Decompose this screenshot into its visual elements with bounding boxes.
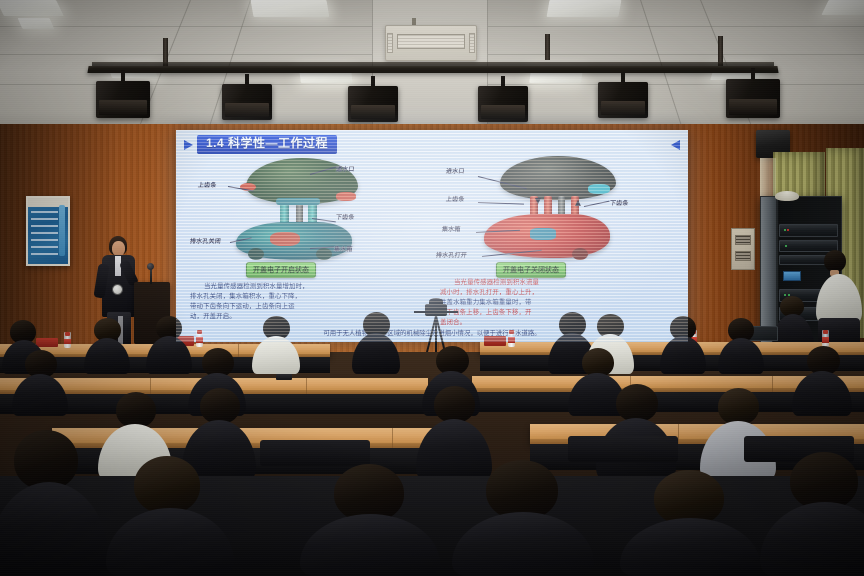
audience-shoulders bbox=[660, 336, 706, 374]
right-wheel bbox=[572, 248, 588, 260]
right-text-line-1: 减小时，排水孔打开，重心上升， bbox=[440, 288, 539, 298]
right-callout-3: 集水箱 bbox=[442, 224, 462, 233]
left-callout-4: 集水箱 bbox=[334, 244, 354, 253]
audience-member-foreground bbox=[760, 452, 864, 576]
wall-poster bbox=[26, 196, 70, 266]
audience-shoulders bbox=[760, 502, 864, 576]
air-conditioner-unit bbox=[385, 25, 477, 61]
stage-light bbox=[726, 68, 780, 118]
audience-head bbox=[434, 386, 475, 423]
stage-light bbox=[598, 72, 648, 118]
stage-light bbox=[222, 74, 272, 120]
lighting-truss bbox=[87, 66, 778, 73]
water-bottle bbox=[822, 330, 829, 347]
left-base-detail bbox=[270, 232, 300, 246]
camera-body bbox=[425, 304, 447, 316]
audience-shoulders bbox=[252, 336, 300, 374]
left-wheel2 bbox=[316, 248, 332, 260]
right-callout-0: 进水口 bbox=[446, 166, 466, 175]
audience-head bbox=[116, 392, 156, 428]
left-joint bbox=[276, 198, 320, 205]
audience-member bbox=[596, 384, 676, 480]
stage-light bbox=[96, 70, 150, 118]
left-text-line-0: 当光量传感器检测到积水量增加时， bbox=[190, 282, 309, 292]
camera-crossbar bbox=[414, 311, 458, 313]
audience-shoulders bbox=[718, 338, 764, 374]
audience-shoulders bbox=[620, 518, 760, 576]
audience-head bbox=[718, 388, 759, 425]
audience-head bbox=[14, 430, 78, 490]
chair-back bbox=[260, 440, 370, 466]
presenter-head bbox=[112, 241, 125, 256]
audience-member bbox=[718, 318, 764, 374]
left-callout-1: 通水口 bbox=[336, 164, 356, 173]
left-callout-0: 上齿条 bbox=[198, 180, 218, 189]
water-bottle bbox=[508, 330, 515, 347]
triangle-left-icon bbox=[184, 140, 193, 150]
slide-title: 1.4 科学性—工作过程 bbox=[197, 135, 337, 153]
rack-lamp bbox=[775, 191, 799, 201]
audience-shoulders bbox=[0, 482, 108, 576]
stage-light bbox=[478, 76, 528, 122]
right-text-line-0: 当光量传感器检测到积水流量 bbox=[440, 278, 539, 288]
water-bottle bbox=[64, 332, 71, 348]
staff-shirt bbox=[816, 274, 862, 322]
audience-head bbox=[200, 388, 240, 424]
right-callout-4: 排水孔打开 bbox=[436, 250, 468, 259]
audience-member bbox=[792, 346, 852, 416]
chair-back bbox=[568, 436, 678, 462]
smartphone-on-desk bbox=[276, 374, 292, 380]
slide-title-row: 1.4 科学性—工作过程 bbox=[184, 135, 680, 154]
right-base-detail bbox=[530, 228, 556, 240]
truss-post bbox=[545, 34, 550, 60]
right-callout-1: 上齿条 bbox=[446, 194, 466, 203]
wall-control-panel bbox=[731, 228, 755, 270]
left-caption: 开盖电子开启状态 bbox=[246, 262, 316, 278]
audience-member-foreground bbox=[300, 464, 440, 576]
desk-nameplate bbox=[484, 336, 506, 346]
right-caption: 开盖电子关闭状态 bbox=[496, 262, 566, 278]
rack-unit[interactable] bbox=[779, 224, 837, 237]
ceiling-light bbox=[0, 0, 64, 16]
left-callout-2: 下齿条 bbox=[336, 212, 356, 221]
audience-member-foreground bbox=[620, 470, 760, 576]
microphone-stand bbox=[150, 268, 152, 284]
ceiling-light bbox=[18, 18, 55, 29]
audience-head bbox=[134, 456, 200, 514]
audience-member-foreground bbox=[452, 460, 594, 576]
presenter-badge bbox=[112, 284, 123, 295]
audience-shoulders bbox=[84, 338, 130, 374]
ceiling-light bbox=[821, 0, 864, 15]
right-callout-2: 下齿条 bbox=[610, 198, 630, 207]
staff-hair bbox=[824, 250, 846, 272]
audience-member bbox=[352, 312, 400, 374]
stage-light bbox=[348, 76, 398, 122]
audience-head bbox=[616, 384, 658, 422]
audience-member-foreground bbox=[0, 430, 108, 576]
ceiling-light bbox=[251, 0, 330, 17]
left-cap-nub2 bbox=[336, 192, 356, 201]
ceiling bbox=[0, 0, 864, 132]
rack-display[interactable] bbox=[783, 271, 801, 281]
audience-shoulders bbox=[106, 508, 234, 576]
audience-shoulders bbox=[146, 336, 192, 374]
lighting-truss-rear bbox=[92, 62, 774, 66]
water-bottle bbox=[196, 330, 203, 347]
audience-member bbox=[660, 316, 706, 374]
audience-member bbox=[252, 316, 300, 374]
ceiling-light bbox=[547, 0, 622, 17]
left-text-line-1: 排水孔关闭，集水箱积水，重心下降， bbox=[190, 292, 309, 302]
triangle-right-icon bbox=[671, 140, 680, 150]
audience-member bbox=[146, 316, 192, 374]
audience-shoulders bbox=[300, 514, 440, 576]
audience-shoulders bbox=[792, 371, 852, 416]
left-callout-3: 排水孔关闭 bbox=[190, 236, 222, 245]
left-text-line-2: 带动下齿条向下运动，上齿条向上运 bbox=[190, 302, 309, 312]
right-cap-nub bbox=[588, 184, 610, 194]
audience-shoulders bbox=[12, 374, 68, 416]
audience-member-foreground bbox=[106, 456, 234, 576]
left-diagram: 上齿条 通水口 下齿条 排水孔关闭 集水箱 bbox=[184, 156, 430, 274]
audience-shoulders bbox=[352, 333, 400, 374]
right-diagram: 进水口 上齿条 下齿条 集水箱 排水孔打开 bbox=[434, 156, 680, 274]
lecture-hall-scene: 1.4 科学性—工作过程 上齿条 bbox=[0, 0, 864, 576]
audience-member bbox=[84, 318, 130, 374]
audience-head bbox=[486, 460, 558, 520]
arrow-up-icon bbox=[575, 200, 581, 206]
arrow-down-icon bbox=[535, 198, 541, 204]
left-wheel bbox=[248, 248, 264, 260]
audience-member bbox=[12, 350, 68, 416]
audience-shoulders bbox=[452, 512, 594, 576]
microphone-head bbox=[147, 263, 154, 270]
